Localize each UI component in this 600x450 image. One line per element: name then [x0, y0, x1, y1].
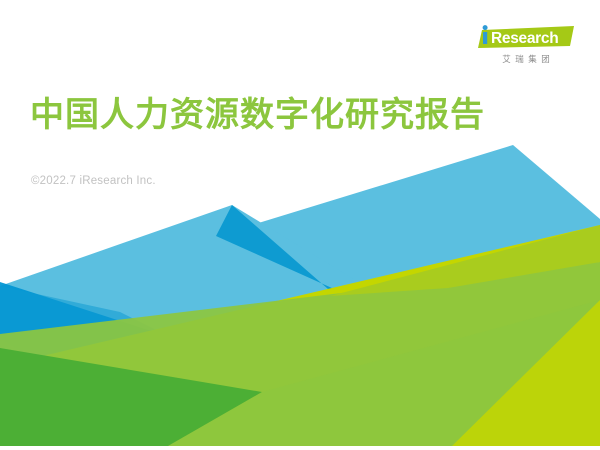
logo-subtitle: 艾瑞集团: [474, 56, 578, 65]
page-title: 中国人力资源数字化研究报告: [30, 96, 485, 135]
logo-wordmark-text: Research: [491, 30, 558, 47]
background-artwork: [0, 0, 600, 450]
copyright-notice: ©2022.7 iResearch Inc.: [31, 175, 156, 187]
iresearch-logo: Research 艾瑞集团: [474, 24, 578, 65]
bottom-white-strip: [0, 446, 600, 450]
logo-i-stem: [483, 32, 487, 44]
logo-i-dot: [483, 25, 488, 30]
logo-mark-svg: Research: [474, 24, 578, 50]
report-cover-slide: Research 艾瑞集团 中国人力资源数字化研究报告 ©2022.7 iRes…: [0, 0, 600, 450]
logo-mark: Research: [474, 24, 578, 50]
